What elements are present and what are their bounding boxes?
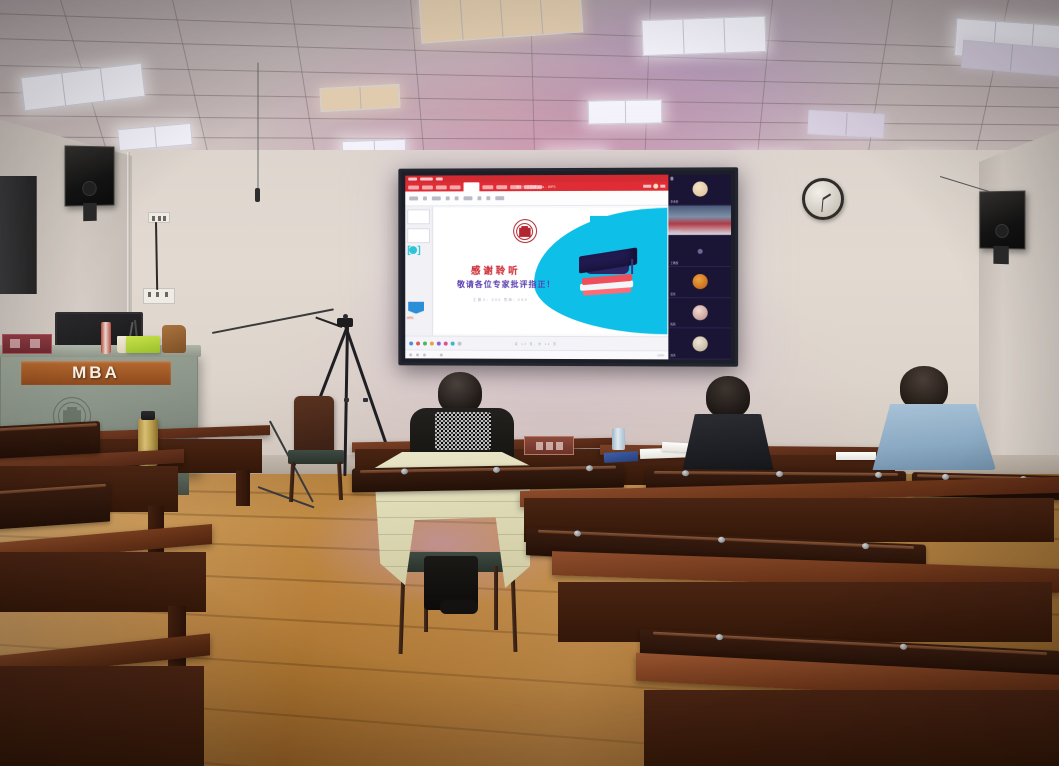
zoom-level[interactable]: 100% [657,353,664,357]
slide-byline: 汇报人：XXX 导师：XXX [473,297,528,302]
participant-name: 陈晓 [670,323,675,327]
tumbler-cup [612,428,625,450]
water-bottle [101,322,111,354]
green-box [126,336,160,353]
ribbon-tab[interactable] [496,185,507,189]
bench-seat-left [0,421,100,459]
person-torso [682,414,774,472]
classroom-photo: 毕业论文答辩.pptx - WPS [0,0,1059,766]
ribbon-tab-active[interactable] [464,182,480,191]
bold-icon[interactable] [446,196,450,200]
participant-tile[interactable]: 王教授 [668,236,731,267]
participant-tile[interactable]: 李老师 [668,174,731,205]
slide-thumbnail[interactable] [407,209,430,224]
slide-thumbnail[interactable] [407,228,430,243]
wooden-chair [286,396,348,496]
participant-name: 王教授 [670,261,678,265]
font-size-icon[interactable] [432,196,441,200]
participant-avatar [692,305,707,320]
slide-thumbnail-panel[interactable]: [] WPS [405,206,433,335]
participant-avatar [692,182,707,197]
participant-tile[interactable]: 答辩现场 [668,205,731,236]
font-icon[interactable] [423,196,427,200]
participant-avatar [692,336,707,351]
door[interactable] [0,176,37,294]
user-avatar-icon[interactable] [653,184,658,189]
ribbon-tab[interactable] [482,185,493,189]
desk-left-c [0,646,210,766]
wall-outlet-plate[interactable] [143,288,175,304]
podium-label-text: MBA [72,363,120,383]
ribbon-tab-bar[interactable]: 毕业论文答辩.pptx - WPS [405,182,668,192]
university-emblem-icon [513,219,537,243]
ribbon-tab[interactable] [450,185,461,189]
ribbon-tab[interactable] [408,185,419,189]
shape-icon[interactable] [477,196,481,200]
participant-tile[interactable]: 刘芳 [668,329,731,360]
person-head [706,376,750,418]
arrange-icon[interactable] [486,196,490,200]
blue-folder [604,451,638,463]
ribbon-tab[interactable] [436,185,447,189]
person-panelist-2 [870,366,1000,476]
wall-switch-plate[interactable] [148,212,170,223]
person-panelist-1 [682,376,782,476]
ceiling-light [807,110,884,138]
left-wall-speaker [65,145,115,206]
slide-headline: 感谢聆听 [471,263,521,277]
participant-placeholder [697,249,702,254]
person-head [900,366,948,410]
ceiling-light [641,16,766,56]
participant-tile[interactable]: 张伟 [668,267,731,298]
app-status-bar[interactable]: 100% [405,349,668,359]
conference-participant-panel[interactable]: 李老师 答辩现场 王教授 张伟 陈晓 [668,174,731,359]
participant-name: 答辩现场 [670,230,680,234]
ribbon-tab[interactable] [422,185,433,189]
current-slide[interactable]: 感谢聆听 敬请各位专家批评指正！ 汇报人：XXX 导师：XXX [434,208,667,335]
participant-tile[interactable]: 陈晓 [668,298,731,329]
person-torso [870,404,996,470]
find-icon[interactable] [495,196,504,200]
slide-sorter-strip[interactable]: 第 12 页，共 12 页 [405,336,668,351]
duty-sign [2,334,52,354]
presentation-app: 毕业论文答辩.pptx - WPS [405,175,668,360]
participant-name: 张伟 [670,292,675,296]
paste-icon[interactable] [409,196,418,200]
wall-clock [802,178,844,220]
mic-icon [670,177,673,181]
participant-name: 刘芳 [670,353,675,357]
italic-icon[interactable] [455,196,459,200]
thumbnail-label: WPS [406,317,414,320]
slide-subhead: 敬请各位专家批评指正！ [457,278,555,289]
right-wall-speaker [979,191,1025,250]
participant-avatar [692,274,707,289]
person-shoes [440,600,478,614]
brown-bag [162,325,186,353]
slide-counter: 第 12 页，共 12 页 [515,341,558,345]
ribbon-toolbar[interactable] [405,191,668,207]
hanging-cable-tip [255,188,260,202]
document-title: 毕业论文答辩.pptx - WPS [516,184,555,189]
hanging-cable [258,63,259,191]
graduation-cap-icon [579,250,637,296]
cyan-bracket-graphic: [] [407,246,420,256]
participant-name: 李老师 [670,199,678,203]
blue-banner-graphic [408,302,424,314]
desk-row-front-far-right [636,664,1059,766]
align-icon[interactable] [464,196,473,200]
projection-screen[interactable]: 毕业论文答辩.pptx - WPS [398,167,738,366]
ceiling-light [588,99,662,124]
ceiling-light [319,84,400,112]
podium-mba-label: MBA [21,361,171,385]
